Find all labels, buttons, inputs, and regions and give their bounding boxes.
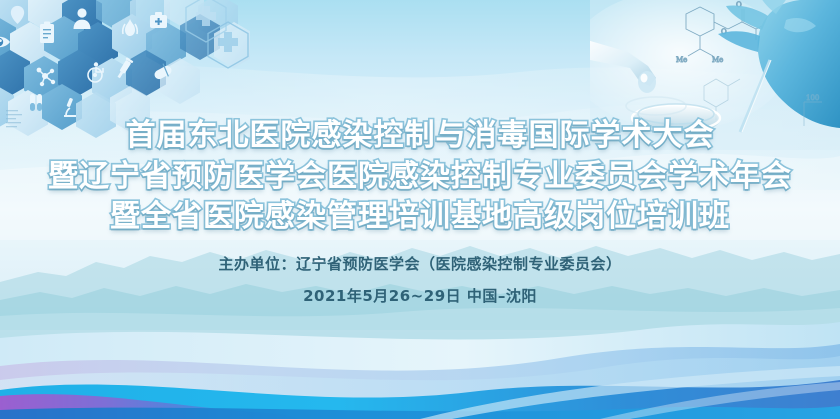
conference-title-line-1: 首届东北医院感染控制与消毒国际学术大会	[0, 120, 840, 152]
conference-title-line-2: 暨辽宁省预防医学会医院感染控制专业委员会学术年会	[0, 161, 840, 193]
organizer-line: 主办单位：辽宁省预防医学会（医院感染控制专业委员会）	[0, 253, 840, 274]
banner-text-block: 首届东北医院感染控制与消毒国际学术大会 暨辽宁省预防医学会医院感染控制专业委员会…	[0, 120, 840, 306]
date-location-line: 2021年5月26~29日 中国–沈阳	[0, 285, 840, 306]
conference-title-line-3: 暨全省医院感染管理培训基地高级岗位培训班	[0, 201, 840, 233]
conference-banner: Me Me O O OH	[0, 0, 840, 419]
conference-meta-block: 主办单位：辽宁省预防医学会（医院感染控制专业委员会） 2021年5月26~29日…	[0, 253, 840, 306]
